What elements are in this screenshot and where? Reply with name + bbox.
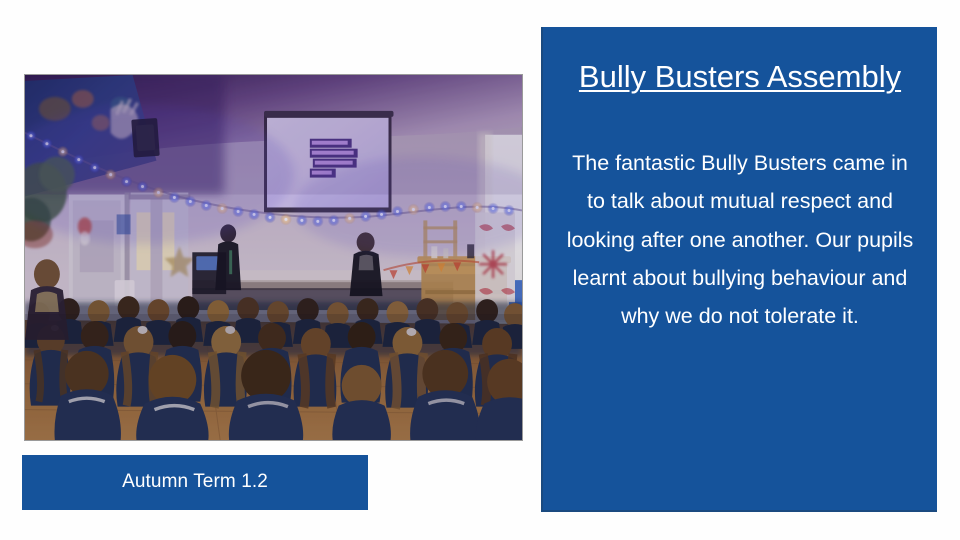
panel-body-text: The fantastic Bully Busters came in to t… [561, 144, 919, 335]
assembly-photo-frame [24, 74, 523, 441]
slide-root: Autumn Term 1.2 Bully Busters Assembly T… [0, 0, 960, 540]
page-title: Bully Busters Assembly [561, 53, 919, 100]
photo-caption-label: Autumn Term 1.2 [122, 471, 268, 494]
photo-caption-box: Autumn Term 1.2 [22, 455, 368, 510]
content-panel: Bully Busters Assembly The fantastic Bul… [541, 27, 937, 512]
assembly-photograph [25, 75, 522, 441]
